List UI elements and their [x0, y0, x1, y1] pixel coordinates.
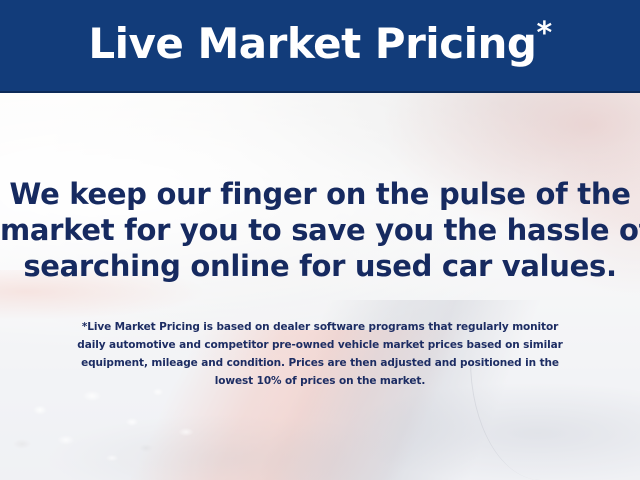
headline-line-1: We keep our finger on the pulse of the	[0, 176, 640, 212]
disclaimer-line-3: equipment, mileage and condition. Prices…	[0, 354, 640, 372]
headline-line-3: searching online for used car values.	[0, 248, 640, 284]
headline-block: We keep our finger on the pulse of the m…	[0, 176, 640, 284]
disclaimer-line-1: *Live Market Pricing is based on dealer …	[0, 318, 640, 336]
disclaimer-block: *Live Market Pricing is based on dealer …	[0, 318, 640, 390]
headline-line-2: market for you to save you the hassle of	[0, 212, 640, 248]
header-banner-bar: Live Market Pricing*	[0, 0, 640, 93]
live-market-pricing-banner: Live Market Pricing* We keep our finger …	[0, 0, 640, 480]
disclaimer-line-2: daily automotive and competitor pre-owne…	[0, 336, 640, 354]
page-title: Live Market Pricing*	[88, 23, 551, 69]
page-title-text: Live Market Pricing	[88, 19, 536, 68]
page-title-asterisk: *	[536, 16, 551, 51]
disclaimer-line-4: lowest 10% of prices on the market.	[0, 372, 640, 390]
